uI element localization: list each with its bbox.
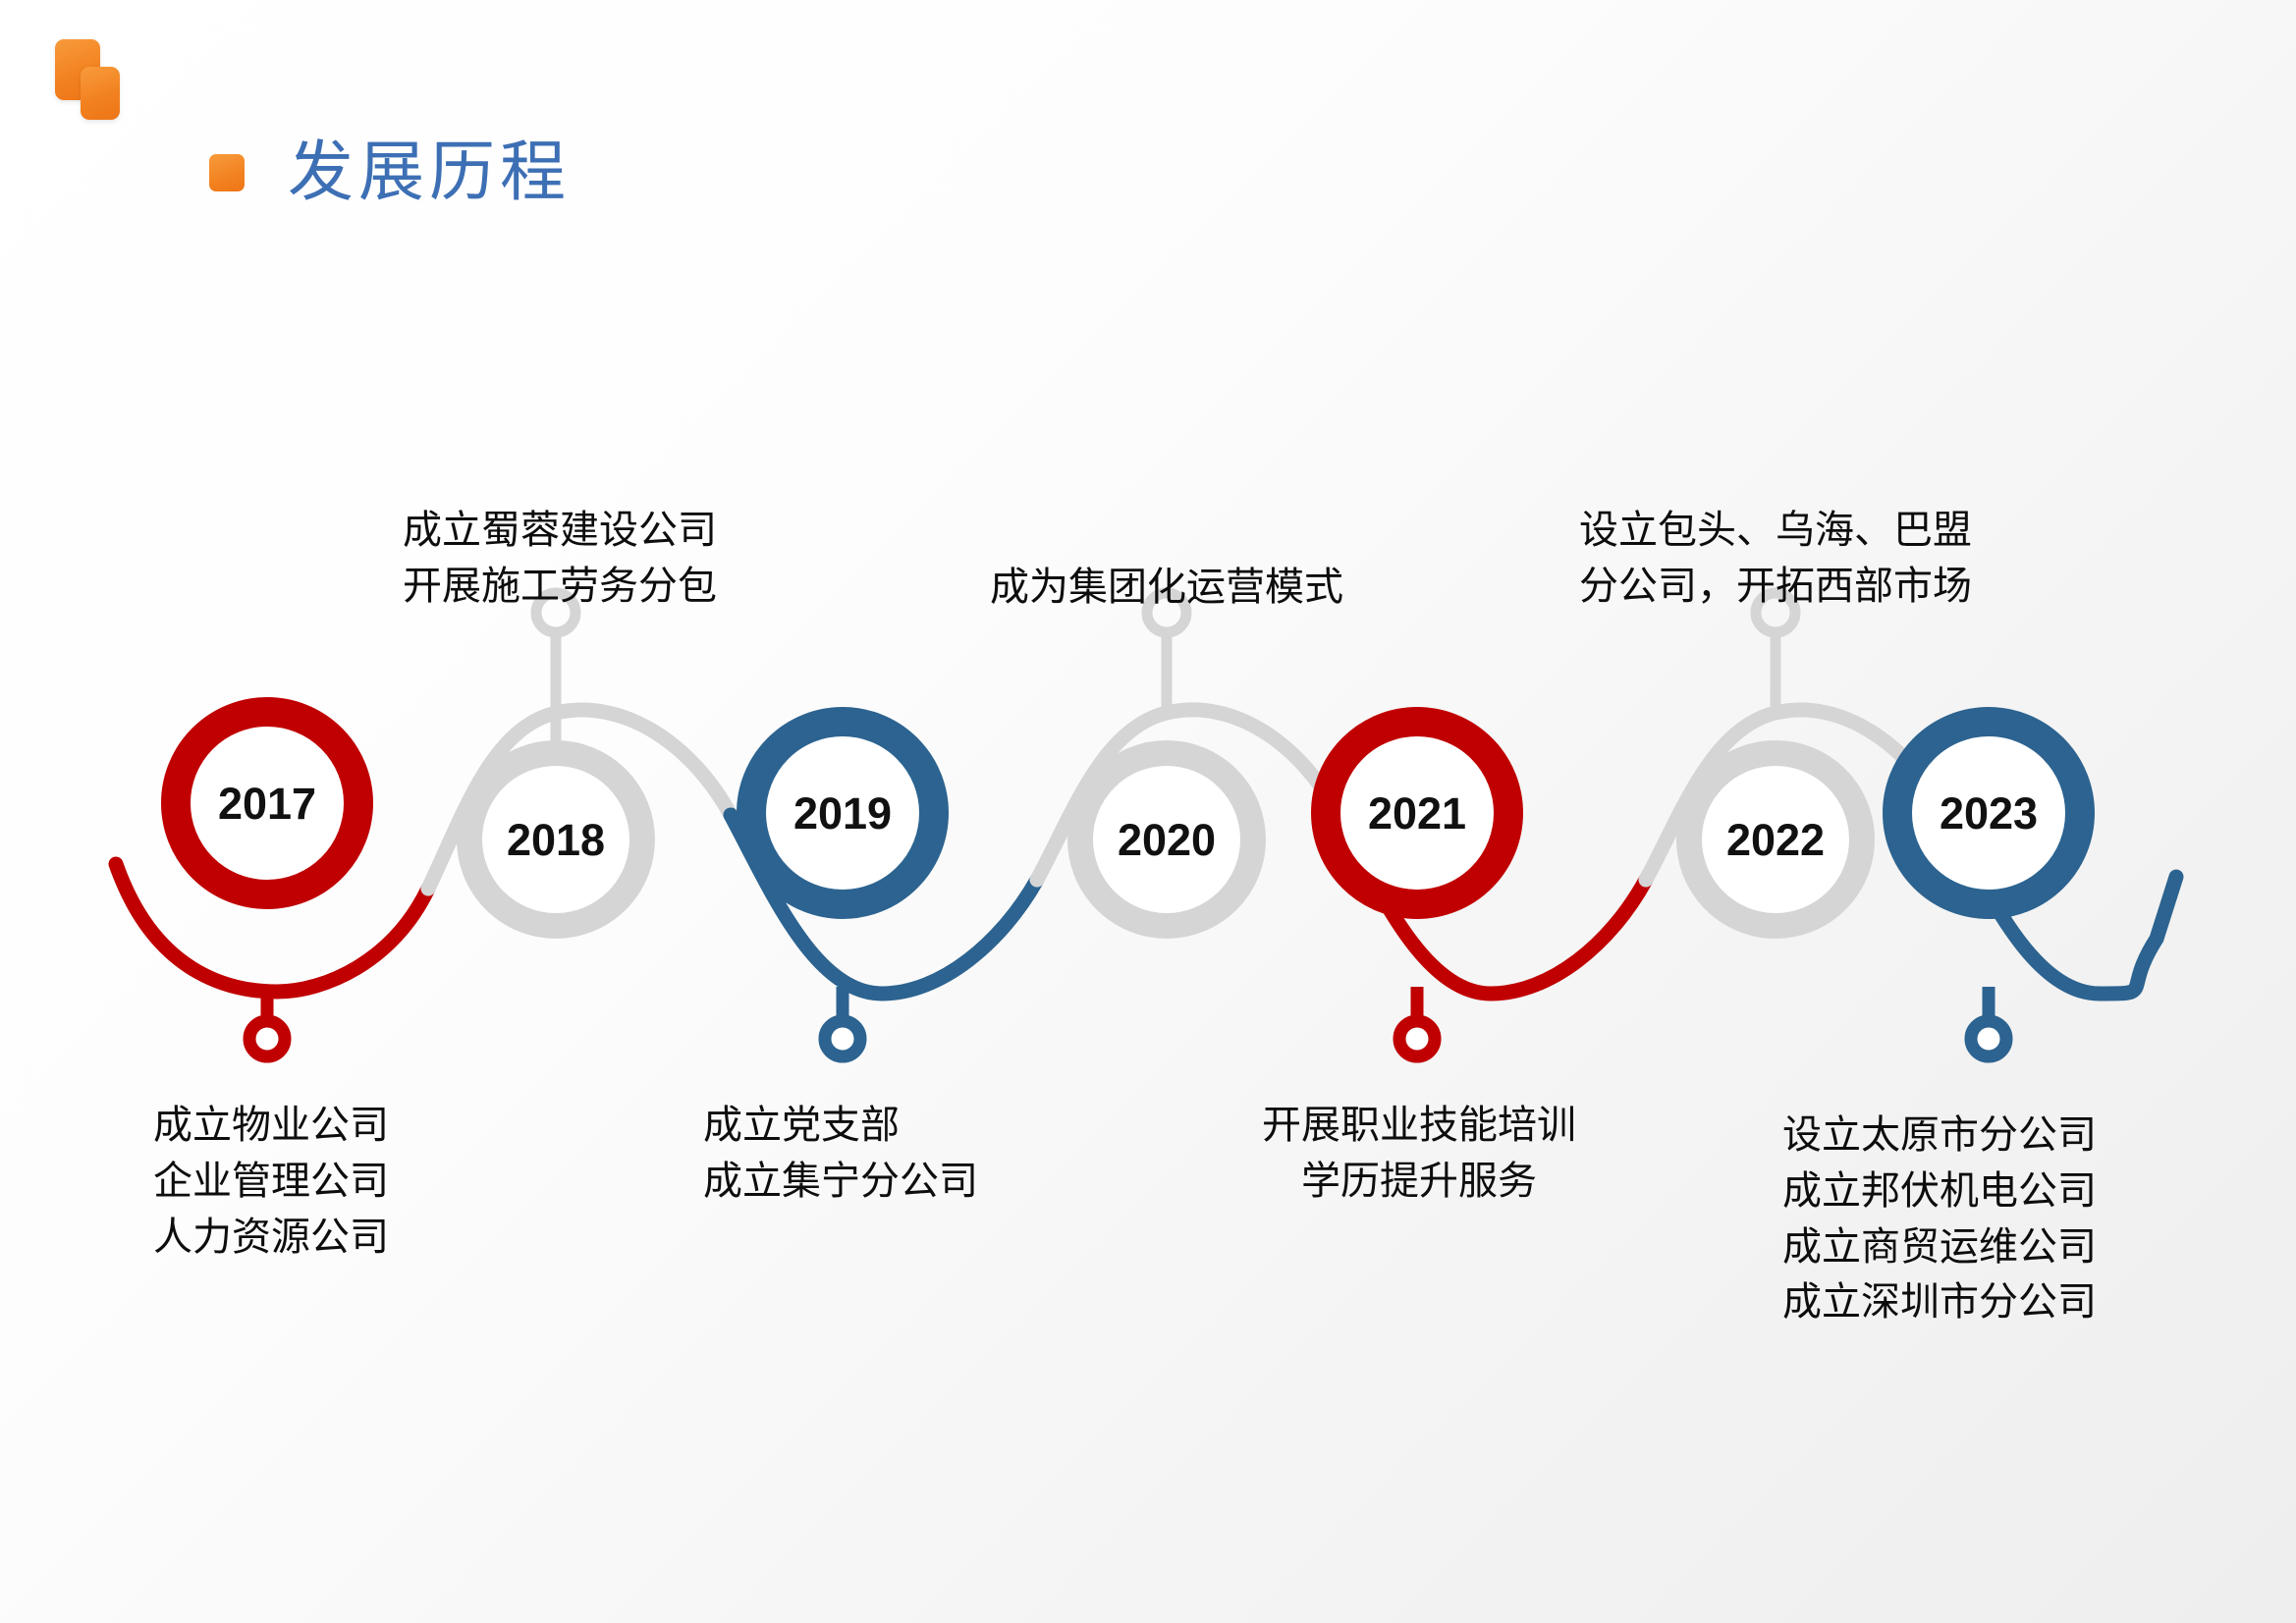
bottom-donut-2019 — [825, 1021, 860, 1056]
year-text-2018: 2018 — [507, 815, 605, 865]
year-text-2022: 2022 — [1726, 815, 1825, 865]
event-line: 成立集宁分公司 — [703, 1154, 1096, 1210]
slide-root: 发展历程 2018 — [0, 0, 2296, 1623]
event-label-2021: 开展职业技能培训 学历提升服务 — [1232, 1098, 1606, 1210]
milestone-2019[interactable]: 2019 — [751, 722, 934, 1056]
year-text-2017: 2017 — [218, 779, 316, 829]
event-label-2023: 设立太原市分公司 成立邦伏机电公司 成立商贸运维公司 成立深圳市分公司 — [1782, 1108, 2195, 1330]
milestone-2017[interactable]: 2017 — [176, 712, 358, 1056]
milestone-2021[interactable]: 2021 — [1326, 722, 1508, 1056]
event-line: 成为集团化运营模式 — [931, 560, 1402, 616]
event-line: 企业管理公司 — [153, 1154, 546, 1210]
event-line: 开展职业技能培训 — [1232, 1098, 1606, 1154]
timeline-graphic: 2018 2020 2022 2017 2019 — [0, 0, 2296, 1623]
year-text-2023: 2023 — [1940, 788, 2038, 839]
event-line: 成立商贸运维公司 — [1782, 1219, 2195, 1275]
event-label-2018: 成立蜀蓉建设公司 开展施工劳务分包 — [354, 503, 766, 615]
event-line: 成立深圳市分公司 — [1782, 1274, 2195, 1330]
event-line: 成立邦伏机电公司 — [1782, 1163, 2195, 1219]
event-line: 设立包头、乌海、巴盟 — [1540, 503, 2011, 559]
event-line: 成立蜀蓉建设公司 — [354, 503, 766, 559]
year-text-2019: 2019 — [793, 788, 892, 839]
bottom-donut-2021 — [1399, 1021, 1435, 1056]
bottom-donut-2017 — [249, 1021, 285, 1056]
event-label-2022: 设立包头、乌海、巴盟 分公司，开拓西部市场 — [1540, 503, 2011, 615]
event-line: 成立物业公司 — [153, 1098, 546, 1154]
event-line: 开展施工劳务分包 — [354, 559, 766, 615]
year-text-2021: 2021 — [1368, 788, 1466, 839]
event-line: 学历提升服务 — [1232, 1154, 1606, 1210]
year-text-2020: 2020 — [1118, 815, 1216, 865]
bottom-donut-2023 — [1971, 1021, 2006, 1056]
milestone-2023[interactable]: 2023 — [1897, 722, 2080, 1056]
event-line: 分公司，开拓西部市场 — [1540, 559, 2011, 615]
event-label-2019: 成立党支部 成立集宁分公司 — [703, 1098, 1096, 1210]
event-label-2017: 成立物业公司 企业管理公司 人力资源公司 — [153, 1098, 546, 1265]
event-line: 设立太原市分公司 — [1782, 1108, 2195, 1163]
event-line: 人力资源公司 — [153, 1210, 546, 1266]
event-line: 成立党支部 — [703, 1098, 1096, 1154]
event-label-2020: 成为集团化运营模式 — [931, 560, 1402, 616]
